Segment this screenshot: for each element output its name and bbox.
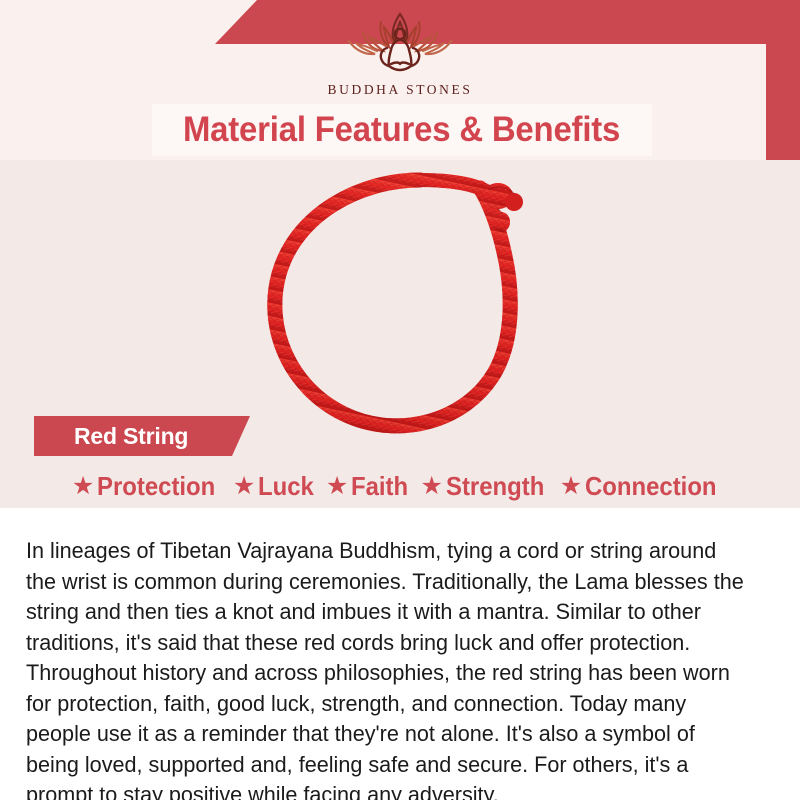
star-icon: ★ — [560, 474, 582, 499]
star-icon: ★ — [72, 474, 94, 499]
title-banner: Material Features & Benefits — [152, 104, 652, 156]
benefit-label: Faith — [351, 471, 408, 502]
brand-logo: BUDDHA STONES — [0, 8, 800, 98]
benefit-item-faith: ★ Faith — [326, 471, 414, 502]
lotus-meditation-icon — [341, 8, 459, 80]
description-panel: In lineages of Tibetan Vajrayana Buddhis… — [0, 508, 800, 800]
red-string-bracelet-image — [252, 166, 582, 446]
benefit-item-luck: ★ Luck — [233, 471, 319, 502]
product-name-label: Red String — [74, 423, 188, 450]
product-name-ribbon: Red String — [34, 416, 250, 456]
star-icon: ★ — [326, 474, 348, 499]
star-icon: ★ — [233, 474, 255, 499]
benefit-label: Connection — [585, 471, 717, 502]
benefit-item-protection: ★ Protection — [72, 471, 226, 502]
page-title: Material Features & Benefits — [183, 110, 620, 150]
star-icon: ★ — [420, 474, 442, 499]
benefit-label: Strength — [446, 471, 544, 502]
brand-name: BUDDHA STONES — [328, 82, 473, 98]
benefit-item-connection: ★ Connection — [560, 471, 728, 502]
product-feature-poster: BUDDHA STONES Material Features & Benefi… — [0, 0, 800, 800]
benefit-item-strength: ★ Strength — [420, 471, 552, 502]
benefits-row: ★ Protection ★ Luck ★ Faith ★ Strength ★… — [0, 466, 800, 506]
description-text: In lineages of Tibetan Vajrayana Buddhis… — [26, 536, 748, 800]
benefit-label: Protection — [97, 471, 215, 502]
benefit-label: Luck — [258, 471, 314, 502]
